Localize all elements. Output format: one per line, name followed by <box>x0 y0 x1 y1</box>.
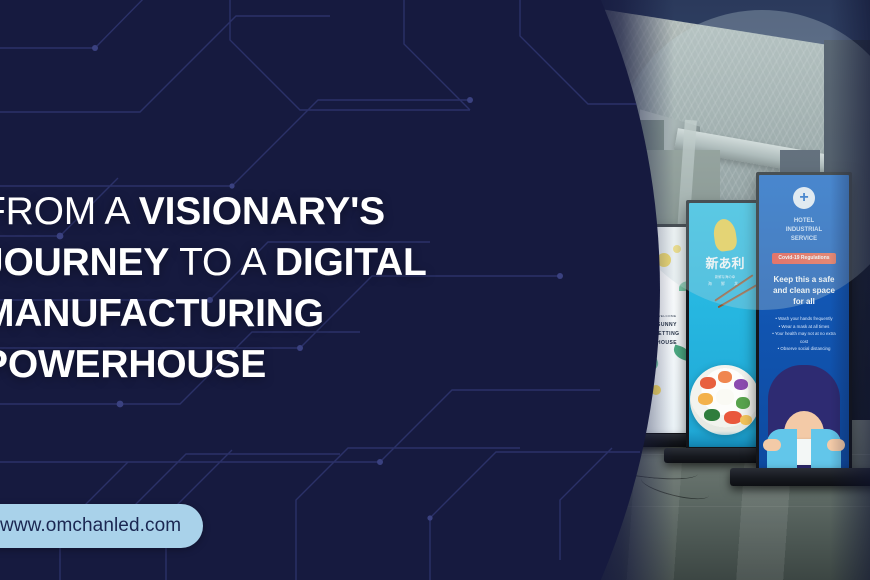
headline-line-4: POWERHOUSE <box>0 339 542 390</box>
headline-seg: TO A <box>169 241 275 284</box>
kiosk-4-header: HOTELINDUSTRIALSERVICE <box>768 217 840 244</box>
kiosk-3-poster: 新あ利 新鮮な海の幸 海 鮮 丼 <box>689 203 761 447</box>
medical-cross-icon: + <box>619 253 630 264</box>
headline-seg: VISIONARY'S <box>139 190 385 233</box>
blog-banner: + STAY SAFEHOTEL SERVICE Covid-19 Regula… <box>0 0 870 580</box>
kiosk-4: + HOTELINDUSTRIALSERVICE Covid-19 Regula… <box>756 172 852 472</box>
kiosk-3: 新あ利 新鮮な海の幸 海 鮮 丼 <box>686 200 764 450</box>
medical-cross-icon: + <box>793 187 815 209</box>
website-url-text: www.omchanled.com <box>0 515 181 537</box>
banner-headline: FROM A VISIONARY'S JOURNEY TO A DIGITAL … <box>0 186 542 390</box>
kiosk-4-pill: Covid-19 Regulations <box>772 253 837 264</box>
headline-line-3: MANUFACTURING <box>0 288 542 339</box>
headline-line-2: JOURNEY TO A DIGITAL <box>0 237 542 288</box>
headline-line-1: FROM A VISIONARY'S <box>0 186 542 237</box>
kiosk-3-bowl <box>690 365 760 435</box>
website-url-badge[interactable]: www.omchanled.com <box>0 504 203 548</box>
golden-wheat-icon <box>712 218 738 253</box>
kiosk-2-text: WELCOME SUNNYPETTINGHOUSE <box>654 312 679 348</box>
kiosk-4-base <box>730 468 870 486</box>
headline-seg: DIGITAL <box>275 241 427 284</box>
signage-photo: + STAY SAFEHOTEL SERVICE Covid-19 Regula… <box>584 0 870 580</box>
kiosk-4-poster: + HOTELINDUSTRIALSERVICE Covid-19 Regula… <box>759 175 849 469</box>
headline-seg: POWERHOUSE <box>0 343 266 386</box>
headline-seg: FROM A <box>0 190 139 233</box>
kiosk-3-title: 新あ利 <box>705 256 744 271</box>
headline-seg: JOURNEY <box>0 241 169 284</box>
kiosk-4-bullets: • Wash your hands frequently• Wear a mas… <box>768 315 840 353</box>
kiosk-4-illustration <box>759 351 849 469</box>
headline-seg: MANUFACTURING <box>0 292 324 335</box>
kiosk-4-title: Keep this a safe and clean space for all <box>767 274 841 307</box>
